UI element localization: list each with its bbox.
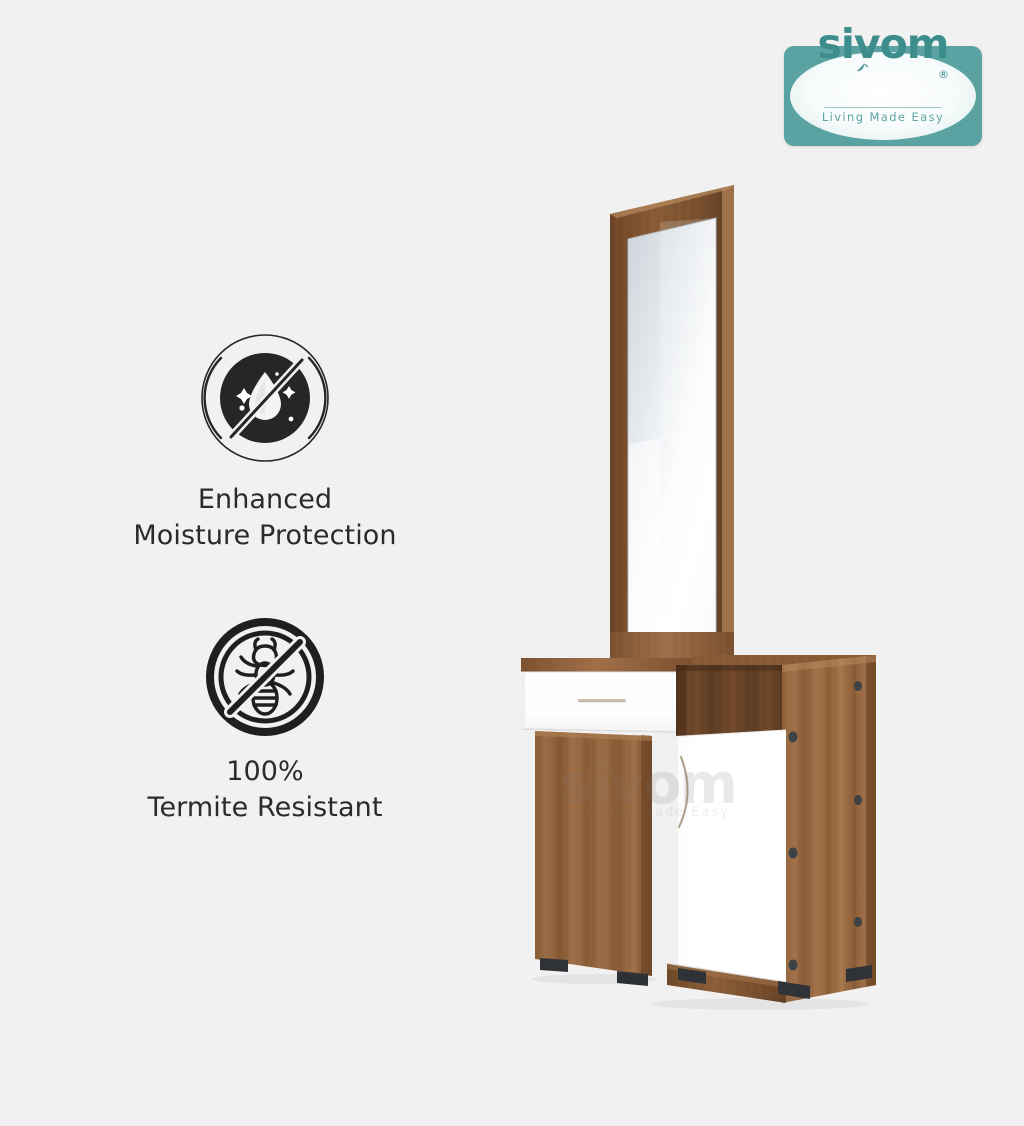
termite-no-entry-icon — [206, 618, 324, 736]
water-droplet-no-entry-icon — [199, 332, 331, 464]
mirror-glass — [628, 218, 716, 637]
feature-moisture-protection: Enhanced Moisture Protection — [55, 332, 475, 554]
right-side-panel — [782, 655, 876, 1003]
left-leg-panel — [535, 731, 652, 976]
feature-termite-line2: Termite Resistant — [55, 790, 475, 826]
feature-moisture-label: Enhanced Moisture Protection — [55, 482, 475, 554]
drawer-handle[interactable] — [578, 699, 626, 702]
feature-moisture-line1: Enhanced — [198, 484, 332, 515]
product-image-canvas: sivom Living Made Easy sivom ® Living Ma… — [0, 0, 1024, 1126]
feature-moisture-line2: Moisture Protection — [55, 518, 475, 554]
feature-termite-label: 100% Termite Resistant — [55, 754, 475, 826]
logo-wordmark: sivom — [784, 24, 982, 65]
logo-tagline: Living Made Easy — [784, 110, 982, 124]
registered-trademark-mark: ® — [938, 68, 949, 81]
feature-termite-line1: 100% — [226, 756, 304, 787]
product-illustration — [0, 0, 1024, 1126]
feature-termite-resistant: 100% Termite Resistant — [55, 618, 475, 826]
logo-divider — [824, 107, 942, 108]
